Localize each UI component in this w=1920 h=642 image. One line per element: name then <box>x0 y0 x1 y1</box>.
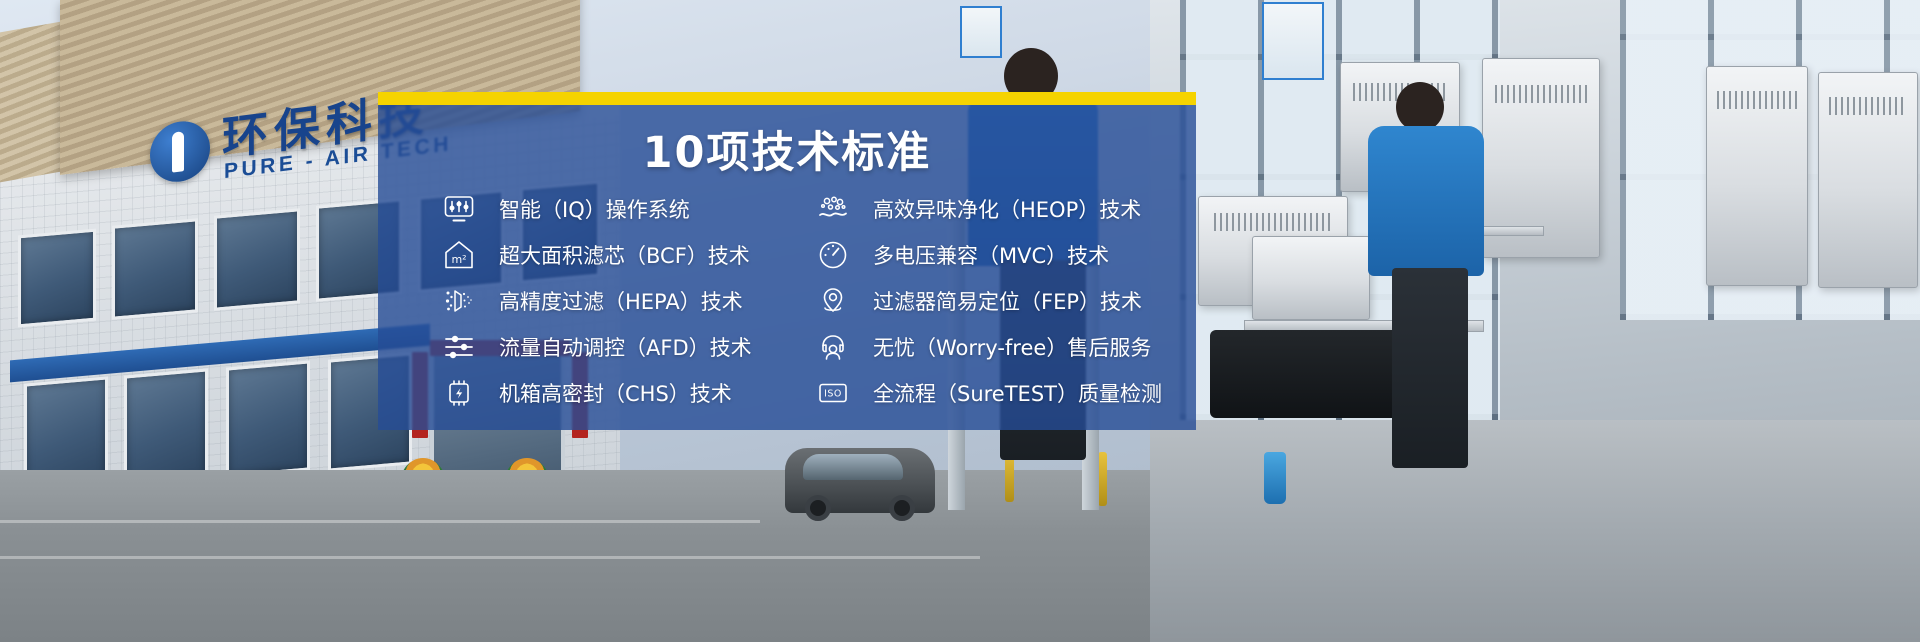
feature-label: 高效异味净化（HEOP）技术 <box>873 194 1141 224</box>
cleaning-bottle <box>1264 452 1286 504</box>
svg-text:ISO: ISO <box>824 389 842 400</box>
wall-poster <box>1262 2 1324 80</box>
worker-head <box>1396 82 1444 132</box>
worker-uniform <box>1368 126 1484 276</box>
window <box>214 208 300 311</box>
house-square-meter-icon: m² <box>441 237 477 273</box>
feature-column-left: 智能（IQ）操作系统 m² 超大面积滤芯（BCF）技术 <box>378 186 787 416</box>
window <box>226 360 310 477</box>
bollard <box>1098 452 1107 506</box>
test-equipment <box>1252 236 1370 320</box>
feature-columns: 智能（IQ）操作系统 m² 超大面积滤芯（BCF）技术 <box>378 186 1196 416</box>
parked-car <box>785 448 935 513</box>
page-title: 10项技术标准 <box>378 118 1196 180</box>
car-wheel <box>805 495 831 521</box>
headset-support-icon <box>815 329 851 365</box>
sealed-chip-bolt-icon <box>441 375 477 411</box>
worker-pants <box>1392 268 1468 468</box>
feature-item-hepa[interactable]: 高精度过滤（HEPA）技术 <box>441 278 787 324</box>
feature-item-chs[interactable]: 机箱高密封（CHS）技术 <box>441 370 787 416</box>
window <box>124 368 208 485</box>
air-purifier-unit <box>1706 66 1808 286</box>
svg-text:m²: m² <box>451 253 466 266</box>
feature-column-right: 高效异味净化（HEOP）技术 多电压兼容（MVC）技术 <box>787 186 1196 416</box>
car-wheel <box>889 495 915 521</box>
location-pin-icon <box>815 283 851 319</box>
feature-label: 多电压兼容（MVC）技术 <box>873 240 1109 270</box>
slider-controls-icon <box>441 329 477 365</box>
feature-label: 无忧（Worry-free）售后服务 <box>873 332 1151 362</box>
feature-item-fep[interactable]: 过滤器简易定位（FEP）技术 <box>815 278 1196 324</box>
window <box>112 218 198 320</box>
feature-item-heop[interactable]: 高效异味净化（HEOP）技术 <box>815 186 1196 232</box>
feature-label: 过滤器简易定位（FEP）技术 <box>873 286 1142 316</box>
banner-stage: 环保科技 PURE - AIR TECH <box>0 0 1920 642</box>
window <box>18 229 96 328</box>
feature-label: 超大面积滤芯（BCF）技术 <box>499 240 750 270</box>
air-purifier-unit <box>1818 72 1918 288</box>
ground-marking <box>0 556 980 559</box>
company-logo-icon <box>150 118 210 185</box>
panel-accent-bar <box>378 92 1196 105</box>
feature-label: 全流程（SureTEST）质量检测 <box>873 378 1162 408</box>
feature-label: 流量自动调控（AFD）技术 <box>499 332 752 362</box>
monitor-sliders-icon <box>441 191 477 227</box>
feature-item-mvc[interactable]: 多电压兼容（MVC）技术 <box>815 232 1196 278</box>
feature-item-afd[interactable]: 流量自动调控（AFD）技术 <box>441 324 787 370</box>
bubbles-wave-icon <box>815 191 851 227</box>
feature-label: 机箱高密封（CHS）技术 <box>499 378 732 408</box>
gauge-meter-icon <box>815 237 851 273</box>
feature-item-suretest[interactable]: ISO 全流程（SureTEST）质量检测 <box>815 370 1196 416</box>
black-cover <box>1210 330 1420 418</box>
feature-item-iq[interactable]: 智能（IQ）操作系统 <box>441 186 787 232</box>
feature-item-bcf[interactable]: m² 超大面积滤芯（BCF）技术 <box>441 232 787 278</box>
particle-filter-icon <box>441 283 477 319</box>
iso-badge-icon: ISO <box>815 375 851 411</box>
feature-label: 智能（IQ）操作系统 <box>499 194 690 224</box>
ground-marking <box>0 520 760 523</box>
feature-item-worryfree[interactable]: 无忧（Worry-free）售后服务 <box>815 324 1196 370</box>
wall-poster <box>960 6 1002 58</box>
feature-label: 高精度过滤（HEPA）技术 <box>499 286 743 316</box>
